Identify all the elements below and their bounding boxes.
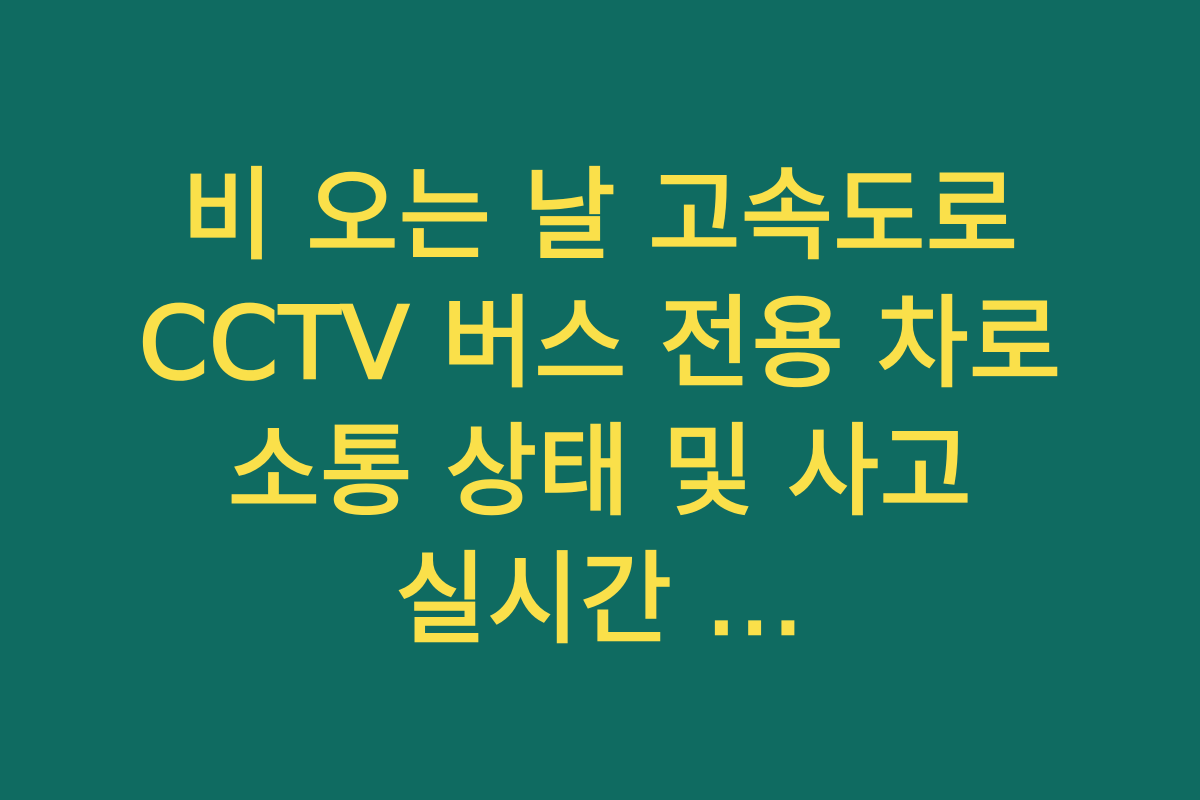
text-card: 비 오는 날 고속도로 CCTV 버스 전용 차로 소통 상태 및 사고 실시간… (0, 0, 1200, 800)
headline-text: 비 오는 날 고속도로 CCTV 버스 전용 차로 소통 상태 및 사고 실시간… (80, 152, 1120, 664)
